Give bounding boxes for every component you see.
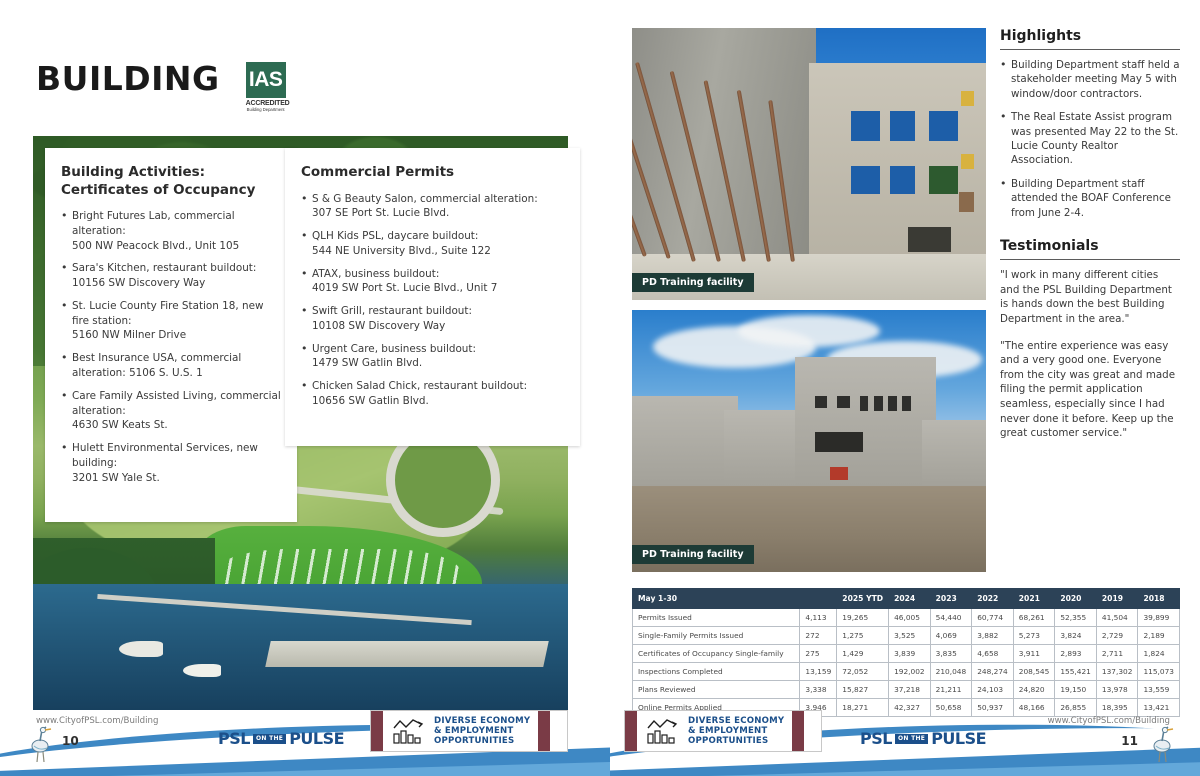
ias-dept-label: Building Department — [246, 108, 286, 113]
window-opening — [851, 111, 879, 141]
col-header-2019: 2019 — [1096, 589, 1138, 609]
list-item: ATAX, business buildout:4019 SW Port St.… — [301, 267, 566, 297]
cell: 275 — [800, 645, 837, 663]
cell: 137,302 — [1096, 663, 1138, 681]
row-label: Inspections Completed — [633, 663, 800, 681]
diverse-economy-badge-right: DIVERSE ECONOMY & EMPLOYMENT OPPORTUNITI… — [624, 710, 822, 752]
list-item: Hulett Environmental Services, new build… — [61, 441, 283, 485]
list-item: The Real Estate Assist program was prese… — [1000, 110, 1180, 168]
ias-mark-icon: IAS — [246, 62, 286, 98]
window-opening — [888, 396, 896, 411]
table-head: May 1-30 2025 YTD 2024 2023 2022 2021 20… — [633, 589, 1180, 609]
page-right: PD Training facility PD Training facilit… — [610, 0, 1200, 776]
badge-cap-right — [538, 711, 550, 751]
col-header-2025ytd: 2025 YTD — [837, 589, 889, 609]
cell: 3,839 — [889, 645, 931, 663]
badge-inner: DIVERSE ECONOMY & EMPLOYMENT OPPORTUNITI… — [383, 711, 538, 751]
diverse-economy-badge-left: DIVERSE ECONOMY & EMPLOYMENT OPPORTUNITI… — [370, 710, 568, 752]
col-header-period: May 1-30 — [633, 589, 800, 609]
window-opening — [874, 396, 882, 411]
list-item: Bright Futures Lab, commercial alteratio… — [61, 209, 283, 253]
col-header-2018: 2018 — [1138, 589, 1180, 609]
photo2-wall-right — [922, 420, 986, 486]
window-opening — [851, 166, 879, 194]
photo2-wall-mid — [724, 410, 802, 486]
ias-subtitle: ACCREDITED Building Department — [246, 100, 286, 113]
door-opening — [908, 227, 950, 253]
list-item: Best Insurance USA, commercial alteratio… — [61, 351, 283, 381]
col-header-2024: 2024 — [889, 589, 931, 609]
card-heading-activities: Building Activities: Certificates of Occ… — [61, 164, 283, 199]
cell: 4,658 — [972, 645, 1014, 663]
list-item: St. Lucie County Fire Station 18, new fi… — [61, 299, 283, 343]
cell: 3,835 — [930, 645, 972, 663]
large-opening — [815, 432, 863, 453]
sidebar-right: Highlights Building Department staff hel… — [1000, 28, 1180, 453]
list-item: Care Family Assisted Living, commercial … — [61, 389, 283, 433]
badge-inner: DIVERSE ECONOMY & EMPLOYMENT OPPORTUNITI… — [637, 711, 792, 751]
cell: 155,421 — [1055, 663, 1097, 681]
window-opening — [837, 396, 850, 409]
red-equipment — [830, 467, 848, 480]
col-header-current — [800, 589, 837, 609]
cell: 68,261 — [1013, 609, 1055, 627]
table-body: Permits Issued 4,113 19,265 46,005 54,44… — [633, 609, 1180, 717]
row-label: Plans Reviewed — [633, 681, 800, 699]
list-item: Sara's Kitchen, restaurant buildout:1015… — [61, 261, 283, 291]
list-item: Chicken Salad Chick, restaurant buildout… — [301, 379, 566, 409]
cell: 3,824 — [1055, 627, 1097, 645]
page-title: BUILDING — [36, 62, 220, 95]
cell: 41,504 — [1096, 609, 1138, 627]
photo-caption-2: PD Training facility — [632, 545, 754, 564]
cloud — [738, 315, 880, 346]
heading-line-2: Certificates of Occupancy — [61, 182, 255, 198]
table-row: Inspections Completed 13,159 72,052 192,… — [633, 663, 1180, 681]
col-header-2023: 2023 — [930, 589, 972, 609]
cell: 4,069 — [930, 627, 972, 645]
photo2-wall-left — [632, 396, 738, 485]
aerial-boat-1 — [119, 641, 163, 657]
cell: 2,729 — [1096, 627, 1138, 645]
pulse-text: PULSE — [289, 729, 344, 748]
highlights-rule — [1000, 49, 1180, 50]
yellow-marker — [961, 91, 973, 106]
cell: 19,265 — [837, 609, 889, 627]
cell: 2,711 — [1096, 645, 1138, 663]
on-the-text: ON THE — [253, 734, 286, 744]
testimonial-quote: "I work in many different cities and the… — [1000, 268, 1180, 326]
brown-marker — [959, 192, 973, 211]
badge-text-left: DIVERSE ECONOMY & EMPLOYMENT OPPORTUNITI… — [434, 716, 530, 747]
photo2-main-building — [795, 357, 937, 485]
col-header-2021: 2021 — [1013, 589, 1055, 609]
activities-list: Bright Futures Lab, commercial alteratio… — [61, 209, 283, 485]
cell: 60,774 — [972, 609, 1014, 627]
cell: 115,073 — [1138, 663, 1180, 681]
cell: 19,150 — [1055, 681, 1097, 699]
cell: 54,440 — [930, 609, 972, 627]
badge-line-2: & EMPLOYMENT — [434, 726, 530, 736]
row-label: Permits Issued — [633, 609, 800, 627]
card-building-activities: Building Activities: Certificates of Occ… — [45, 148, 297, 522]
cell: 37,218 — [889, 681, 931, 699]
testimonials-block: Testimonials "I work in many different c… — [1000, 238, 1180, 441]
cell: 192,002 — [889, 663, 931, 681]
ias-accreditation-logo: IAS ACCREDITED Building Department — [246, 62, 286, 113]
highlights-heading: Highlights — [1000, 28, 1180, 44]
badge-cap-right — [792, 711, 804, 751]
highlights-list: Building Department staff held a stakeho… — [1000, 58, 1180, 220]
magazine-spread: BUILDING IAS ACCREDITED Building Departm… — [0, 0, 1200, 776]
badge-line-1: DIVERSE ECONOMY — [434, 716, 530, 726]
testimonial-quote: "The entire experience was easy and a ve… — [1000, 339, 1180, 441]
cell: 72,052 — [837, 663, 889, 681]
yellow-marker — [961, 154, 973, 169]
cell: 39,899 — [1138, 609, 1180, 627]
statistics-table: May 1-30 2025 YTD 2024 2023 2022 2021 20… — [632, 588, 1180, 717]
title-row: BUILDING IAS ACCREDITED Building Departm… — [36, 62, 286, 113]
psl-on-the-pulse-logo-right: PSL ON THE PULSE — [860, 729, 986, 748]
list-item: QLH Kids PSL, daycare buildout:544 NE Un… — [301, 229, 566, 259]
permits-list: S & G Beauty Salon, commercial alteratio… — [301, 192, 566, 409]
cell: 248,274 — [972, 663, 1014, 681]
cell: 208,545 — [1013, 663, 1055, 681]
cell: 13,559 — [1138, 681, 1180, 699]
cell: 1,824 — [1138, 645, 1180, 663]
table-row: Permits Issued 4,113 19,265 46,005 54,44… — [633, 609, 1180, 627]
badge-line-1: DIVERSE ECONOMY — [688, 716, 784, 726]
cell: 2,189 — [1138, 627, 1180, 645]
list-item: Urgent Care, business buildout:1479 SW G… — [301, 342, 566, 372]
list-item: S & G Beauty Salon, commercial alteratio… — [301, 192, 566, 222]
cell: 5,273 — [1013, 627, 1055, 645]
window-opening — [815, 396, 828, 409]
testimonials-rule — [1000, 259, 1180, 260]
photo-pd-training-facility-2: PD Training facility — [632, 310, 986, 572]
cell: 24,103 — [972, 681, 1014, 699]
cell: 2,893 — [1055, 645, 1097, 663]
card-commercial-permits: Commercial Permits S & G Beauty Salon, c… — [285, 148, 580, 446]
badge-line-2: & EMPLOYMENT — [688, 726, 784, 736]
heron-bird-icon — [26, 724, 56, 764]
page-number-right: 11 — [1121, 734, 1138, 748]
table-row: Single-Family Permits Issued 272 1,275 3… — [633, 627, 1180, 645]
window-opening — [929, 166, 957, 194]
pulse-text: PULSE — [931, 729, 986, 748]
badge-cap-left — [371, 711, 383, 751]
list-item: Building Department staff attended the B… — [1000, 177, 1180, 220]
page-number-left: 10 — [62, 734, 79, 748]
psl-on-the-pulse-logo-left: PSL ON THE PULSE — [218, 729, 344, 748]
cell: 13,978 — [1096, 681, 1138, 699]
cell: 3,338 — [800, 681, 837, 699]
heading-line-1: Building Activities: — [61, 164, 205, 180]
photo1-building-right — [809, 63, 986, 278]
col-header-2020: 2020 — [1055, 589, 1097, 609]
aerial-boat-2 — [183, 664, 221, 677]
window-opening — [890, 166, 915, 194]
card-heading-permits: Commercial Permits — [301, 164, 566, 182]
table-row: Certificates of Occupancy Single-family … — [633, 645, 1180, 663]
cell: 1,429 — [837, 645, 889, 663]
heron-bird-icon — [1148, 724, 1178, 764]
badge-line-3: OPPORTUNITIES — [688, 736, 784, 746]
cell: 21,211 — [930, 681, 972, 699]
list-item: Swift Grill, restaurant buildout:10108 S… — [301, 304, 566, 334]
ias-mark-text: IAS — [249, 68, 283, 92]
table-row: Plans Reviewed 3,338 15,827 37,218 21,21… — [633, 681, 1180, 699]
cell: 15,827 — [837, 681, 889, 699]
row-label: Certificates of Occupancy Single-family — [633, 645, 800, 663]
window-opening — [929, 111, 957, 141]
window-opening — [860, 396, 868, 411]
chart-growth-icon — [391, 716, 427, 746]
cell: 3,911 — [1013, 645, 1055, 663]
psl-text: PSL — [860, 729, 892, 748]
chart-growth-icon — [645, 716, 681, 746]
row-label: Single-Family Permits Issued — [633, 627, 800, 645]
cell: 3,882 — [972, 627, 1014, 645]
cell: 3,525 — [889, 627, 931, 645]
cell: 1,275 — [837, 627, 889, 645]
list-item: Building Department staff held a stakeho… — [1000, 58, 1180, 101]
on-the-text: ON THE — [895, 734, 928, 744]
col-header-2022: 2022 — [972, 589, 1014, 609]
cell: 24,820 — [1013, 681, 1055, 699]
ias-accredited-label: ACCREDITED — [246, 100, 290, 107]
badge-text-right: DIVERSE ECONOMY & EMPLOYMENT OPPORTUNITI… — [688, 716, 784, 747]
cell: 210,048 — [930, 663, 972, 681]
photo-caption-1: PD Training facility — [632, 273, 754, 292]
page-left: BUILDING IAS ACCREDITED Building Departm… — [0, 0, 610, 776]
photo-pd-training-facility-1: PD Training facility — [632, 28, 986, 300]
cell: 52,355 — [1055, 609, 1097, 627]
testimonials-heading: Testimonials — [1000, 238, 1180, 254]
window-opening — [902, 396, 910, 411]
table-header-row: May 1-30 2025 YTD 2024 2023 2022 2021 20… — [633, 589, 1180, 609]
cell: 4,113 — [800, 609, 837, 627]
psl-text: PSL — [218, 729, 250, 748]
window-opening — [890, 111, 915, 141]
cell: 13,159 — [800, 663, 837, 681]
cell: 272 — [800, 627, 837, 645]
badge-line-3: OPPORTUNITIES — [434, 736, 530, 746]
aerial-dock-2 — [266, 641, 550, 667]
badge-cap-left — [625, 711, 637, 751]
cell: 46,005 — [889, 609, 931, 627]
